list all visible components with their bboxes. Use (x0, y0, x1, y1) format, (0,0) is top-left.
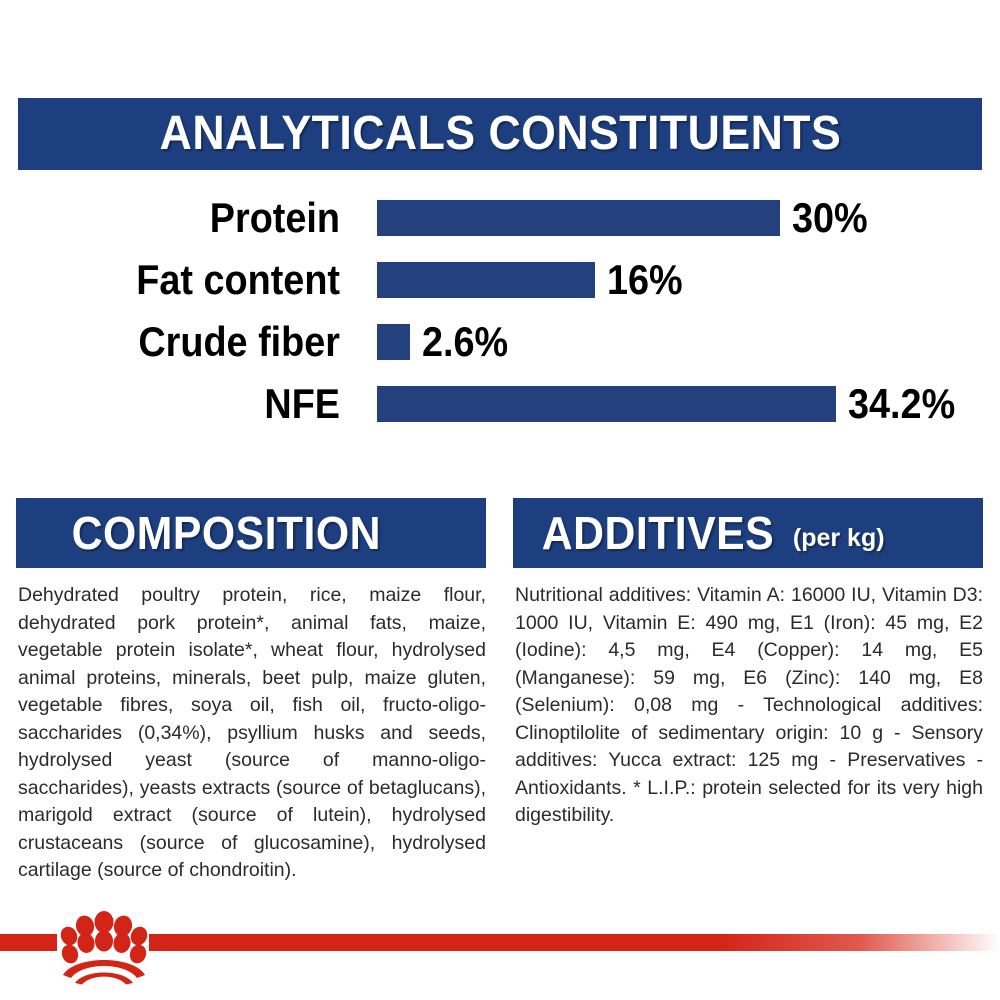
bar-row-crude-fiber: Crude fiber 2.6% (0, 314, 1000, 370)
bar-label-fat-content: Fat content (34, 259, 340, 301)
bar-label-protein: Protein (34, 197, 340, 239)
bar-track-nfe: 34.2% (340, 376, 1000, 432)
composition-header-title: COMPOSITION (72, 510, 381, 556)
bar-fill-nfe (377, 386, 836, 422)
additives-panel: ADDITIVES (per kg) Nutritional additives… (513, 498, 983, 830)
royal-canin-crown-logo (55, 905, 153, 985)
additives-header: ADDITIVES (per kg) (513, 498, 983, 568)
bar-row-protein: Protein 30% (0, 190, 1000, 246)
composition-panel: COMPOSITION Dehydrated poultry protein, … (16, 498, 486, 885)
bar-track-crude-fiber: 2.6% (340, 314, 1000, 370)
bar-fill-fat-content (377, 262, 595, 298)
info-panels: COMPOSITION Dehydrated poultry protein, … (0, 498, 1000, 878)
bar-value-nfe: 34.2% (848, 383, 955, 425)
bar-value-crude-fiber: 2.6% (422, 321, 508, 363)
bar-row-nfe: NFE 34.2% (0, 376, 1000, 432)
bar-value-fat-content: 16% (607, 259, 683, 301)
additives-header-title: ADDITIVES (542, 510, 774, 556)
analyticals-constituents-banner: ANALYTICALS CONSTITUENTS (18, 98, 982, 170)
bar-fill-protein (377, 200, 780, 236)
analyticals-bar-chart: Protein 30% Fat content 16% Crude fiber … (0, 190, 1000, 460)
additives-body-text: Nutritional additives: Vitamin A: 16000 … (513, 582, 985, 830)
bar-label-nfe: NFE (34, 383, 340, 425)
bar-fill-crude-fiber (377, 324, 410, 360)
composition-header: COMPOSITION (16, 498, 486, 568)
bar-track-protein: 30% (340, 190, 1000, 246)
composition-body-text: Dehydrated poultry protein, rice, maize … (16, 582, 488, 885)
bar-label-crude-fiber: Crude fiber (34, 321, 340, 363)
additives-header-suffix: (per kg) (793, 526, 885, 551)
analyticals-banner-title: ANALYTICALS CONSTITUENTS (159, 110, 841, 158)
bar-track-fat-content: 16% (340, 252, 1000, 308)
bar-row-fat-content: Fat content 16% (0, 252, 1000, 308)
bar-value-protein: 30% (792, 197, 868, 239)
